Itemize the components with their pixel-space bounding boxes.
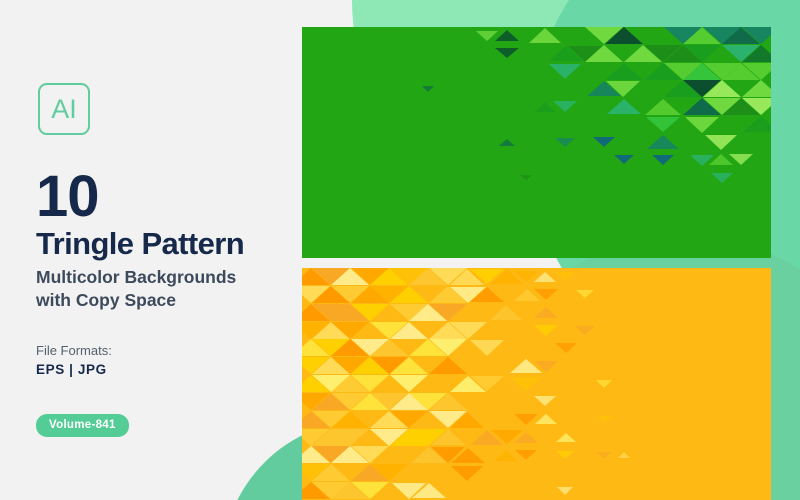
- yellow-triangle-layer: [302, 268, 771, 500]
- preview-canvas: AI 10 Tringle Pattern Multicolor Backgro…: [0, 0, 800, 500]
- triangle-tile: [585, 45, 623, 62]
- triangle-tile: [351, 446, 389, 463]
- triangle-tile: [451, 448, 485, 463]
- adobe-illustrator-badge-icon: AI: [38, 83, 90, 135]
- triangle-tile: [534, 272, 556, 282]
- triangle-tile: [534, 361, 558, 372]
- triangle-tile: [390, 357, 428, 374]
- triangle-tile: [529, 28, 561, 43]
- triangle-tile: [597, 416, 613, 423]
- triangle-tile: [605, 27, 643, 44]
- triangle-tile: [390, 286, 428, 303]
- triangle-tile: [429, 357, 467, 374]
- triangle-tile: [705, 135, 737, 150]
- triangle-tile: [711, 173, 733, 183]
- triangle-tile: [683, 45, 721, 62]
- triangle-tile: [490, 305, 522, 320]
- triangle-tile: [429, 339, 467, 356]
- triangle-tile: [652, 155, 674, 165]
- triangle-tile: [520, 175, 532, 180]
- triangle-tile: [729, 154, 753, 165]
- triangle-tile: [331, 429, 369, 446]
- triangle-tile: [515, 450, 537, 460]
- triangle-tile: [370, 339, 408, 356]
- triangle-tile: [605, 63, 643, 80]
- triangle-tile: [549, 64, 581, 79]
- triangle-tile: [555, 343, 577, 353]
- triangle-tile: [703, 80, 741, 97]
- triangle-tile: [351, 482, 389, 499]
- triangle-tile: [575, 326, 595, 335]
- triangle-tile: [645, 99, 681, 115]
- triangle-tile: [555, 138, 575, 147]
- triangle-tile: [596, 380, 612, 388]
- triangle-tile: [390, 375, 428, 392]
- triangle-tile: [685, 117, 719, 133]
- triangle-tile: [534, 325, 558, 336]
- triangle-tile: [742, 45, 771, 62]
- triangle-tile: [470, 340, 504, 356]
- triangle-tile: [557, 487, 573, 495]
- triangle-tile: [618, 452, 630, 458]
- triangle-tile: [450, 412, 484, 428]
- triangle-tile: [351, 375, 389, 392]
- page-subtitle: Multicolor Backgrounds with Copy Space: [36, 266, 296, 312]
- triangle-tile: [614, 155, 634, 164]
- triangle-tile: [431, 429, 465, 445]
- triangle-tile: [647, 135, 679, 149]
- file-formats-label: File Formats:: [36, 343, 112, 358]
- triangle-tile: [646, 117, 680, 132]
- triangle-tile: [514, 432, 538, 443]
- triangle-tile: [429, 393, 467, 410]
- triangle-tile: [390, 322, 428, 339]
- page-title: Tringle Pattern: [36, 228, 244, 259]
- triangle-tile: [534, 289, 558, 300]
- triangle-tile: [370, 464, 408, 481]
- triangle-tile: [312, 464, 350, 481]
- volume-badge: Volume-841: [36, 414, 129, 437]
- triangle-tile: [390, 411, 428, 428]
- triangle-tile: [742, 27, 771, 44]
- triangle-tile: [422, 86, 434, 92]
- triangle-tile: [556, 451, 574, 459]
- triangle-tile: [535, 414, 557, 424]
- triangle-tile: [412, 483, 446, 498]
- triangle-tile: [495, 48, 519, 58]
- triangle-tile: [742, 63, 771, 80]
- triangle-tile: [495, 30, 519, 41]
- triangle-tile: [451, 466, 483, 481]
- triangle-tile: [743, 116, 771, 132]
- triangle-tile: [606, 81, 640, 97]
- triangle-tile: [351, 304, 389, 321]
- subtitle-line-1: Multicolor Backgrounds: [36, 266, 296, 289]
- triangle-tile: [555, 272, 575, 281]
- triangle-tile: [331, 411, 369, 428]
- triangle-tile: [597, 452, 611, 459]
- yellow-triangle-preview[interactable]: [302, 268, 771, 500]
- triangle-tile: [607, 99, 641, 114]
- triangle-tile: [742, 80, 771, 97]
- item-count: 10: [36, 168, 99, 226]
- triangle-tile: [742, 98, 771, 115]
- triangle-tile: [470, 287, 504, 302]
- subtitle-line-2: with Copy Space: [36, 289, 296, 312]
- triangle-tile: [470, 376, 504, 391]
- triangle-tile: [331, 322, 369, 339]
- triangle-tile: [429, 304, 467, 321]
- triangle-tile: [576, 290, 594, 298]
- green-triangle-layer: [302, 27, 771, 258]
- green-triangle-preview[interactable]: [302, 27, 771, 258]
- triangle-tile: [556, 433, 576, 442]
- triangle-tile: [510, 377, 542, 391]
- triangle-tile: [593, 137, 615, 147]
- file-formats-value: EPS | JPG: [36, 362, 107, 377]
- triangle-tile: [534, 396, 556, 406]
- triangle-tile: [499, 139, 515, 146]
- triangle-tile: [449, 322, 487, 339]
- triangle-tile: [534, 307, 558, 318]
- triangle-tile: [553, 101, 577, 112]
